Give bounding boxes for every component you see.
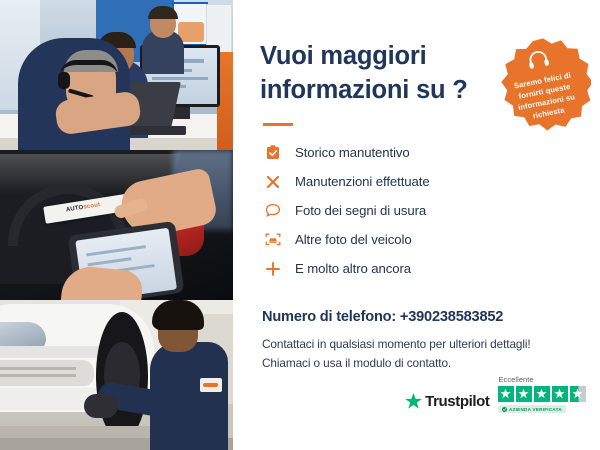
speech-bubble-icon	[262, 201, 284, 221]
verified-label: AZIENDA VERIFICATA	[509, 407, 562, 412]
trustpilot-logo: Trustpilot	[405, 393, 489, 413]
list-item: Foto dei segni di usura	[262, 196, 574, 225]
trustpilot-widget[interactable]: Trustpilot Eccellente AZIENDA VERIFICATA	[405, 375, 586, 414]
star-rating	[498, 386, 587, 403]
mechanic-wheel-photo	[0, 300, 233, 450]
clipboard-check-icon	[262, 143, 284, 163]
trustpilot-wordmark: Trustpilot	[425, 393, 489, 410]
content-panel: Vuoi maggiori informazioni su ? Storico …	[233, 0, 600, 450]
phone-number[interactable]: +390238583852	[400, 309, 503, 325]
trustpilot-rating-label: Eccellente	[499, 375, 534, 384]
star-icon	[552, 386, 569, 403]
verified-badge: AZIENDA VERIFICATA	[498, 405, 566, 413]
list-item: Manutenzioni effettuate	[262, 167, 574, 196]
list-item: Altre foto del veicolo	[262, 225, 574, 254]
badge-text: Saremo felici di fornirti queste informa…	[494, 66, 597, 128]
star-icon	[534, 386, 551, 403]
photo-column: AUTOscout	[0, 0, 233, 450]
headset-icon	[526, 48, 552, 75]
call-center-agent-photo	[0, 0, 233, 150]
phone-label: Numero di telefono:	[262, 309, 396, 325]
promo-banner: AUTOscout Vuoi maggiori informazioni	[0, 0, 600, 450]
list-item: E molto altro ancora	[262, 254, 574, 283]
wrench-cross-icon	[262, 172, 284, 192]
contact-line-2: Chiamaci o usa il modulo di contatto.	[262, 354, 574, 372]
plus-icon	[262, 259, 284, 279]
title-divider	[263, 123, 293, 126]
scan-car-icon	[262, 230, 284, 250]
list-item-label: E molto altro ancora	[295, 261, 411, 276]
contact-line-1: Contattaci in qualsiasi momento per ulte…	[262, 335, 574, 353]
list-item-label: Altre foto del veicolo	[295, 232, 412, 247]
list-item-label: Foto dei segni di usura	[295, 203, 426, 218]
callout-badge: Saremo felici di fornirti queste informa…	[495, 36, 591, 132]
contact-description: Contattaci in qualsiasi momento per ulte…	[262, 335, 574, 372]
star-icon	[498, 386, 515, 403]
check-badge-icon	[502, 407, 507, 412]
star-icon-half	[570, 386, 587, 403]
page-title: Vuoi maggiori informazioni su ?	[260, 40, 475, 107]
star-icon	[516, 386, 533, 403]
list-item-label: Manutenzioni effettuate	[295, 174, 430, 189]
car-label-tablet-photo: AUTOscout	[0, 150, 233, 300]
list-item: Storico manutentivo	[262, 138, 574, 167]
phone-number-line: Numero di telefono: +390238583852	[262, 309, 574, 325]
list-item-label: Storico manutentivo	[295, 145, 410, 160]
feature-list: Storico manutentivo Manutenzioni effettu…	[262, 138, 574, 283]
trustpilot-star-icon	[405, 393, 422, 410]
